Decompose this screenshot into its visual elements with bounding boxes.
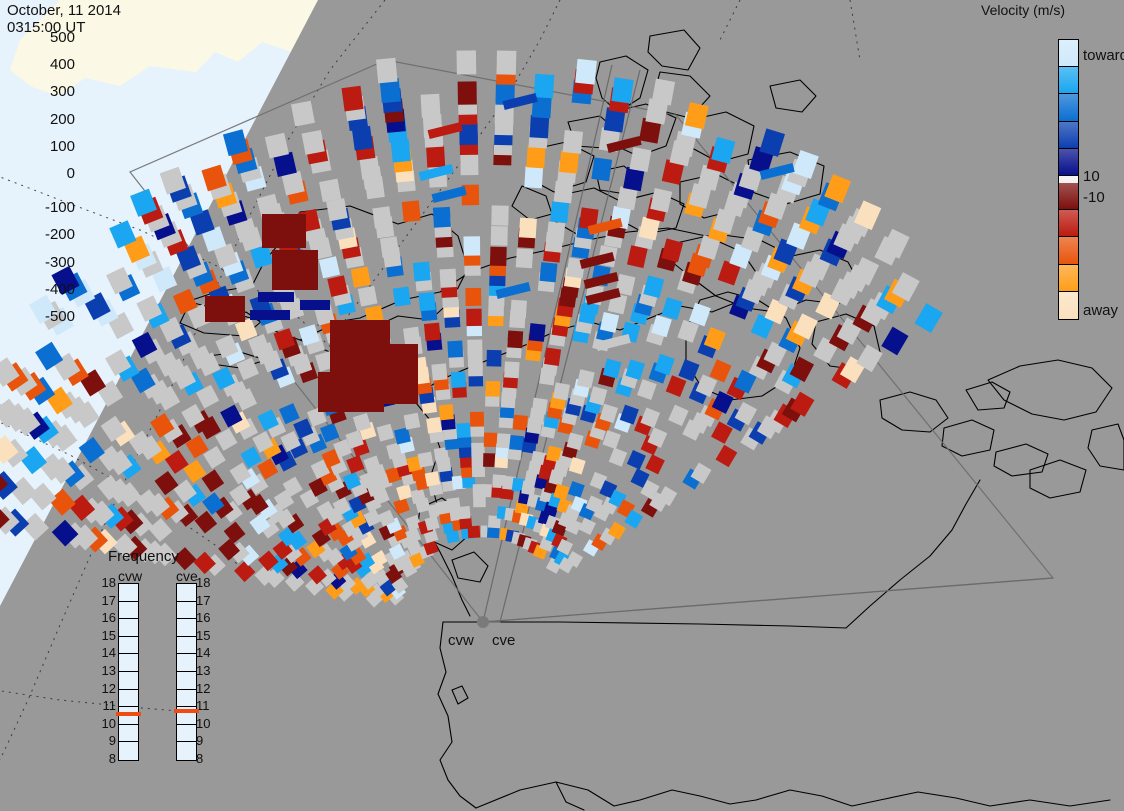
frequency-tick-12: 12 [196,681,216,696]
velocity-cell [413,261,431,281]
frequency-segment [119,672,138,690]
velocity-cell [504,361,520,378]
frequency-segment [177,672,196,690]
velocity-cell [540,262,558,282]
colorbar-band-0 [1059,40,1078,67]
velocity-cell [516,248,533,268]
velocity-cell [418,452,434,468]
velocity-cell [319,179,341,203]
frequency-segment [177,742,196,760]
colorbar-zero-lower-label: -10 [1083,189,1105,206]
velocity-cell [530,115,550,139]
frequency-segment [177,725,196,743]
frequency-tick-17: 17 [196,593,216,608]
frequency-segment [177,602,196,620]
velocity-cell [519,218,537,239]
colorbar-tick--300: -300 [45,254,75,271]
velocity-cell [404,413,421,430]
velocity-cell [402,200,421,222]
frequency-tick-16: 16 [196,610,216,625]
colorbar-band-10 [1059,292,1078,319]
colorbar-band-2 [1059,94,1078,121]
velocity-cell [544,348,561,366]
velocity-cell [563,130,583,154]
frequency-segment [177,690,196,708]
velocity-cell [459,123,478,145]
frequency-bar-label-cvw: cvw [118,568,142,584]
velocity-cell [426,145,445,168]
velocity-cell [467,339,482,356]
site-label-cve: cve [492,632,515,649]
frequency-bar-label-cve: cve [176,568,198,584]
velocity-cell [439,404,454,420]
velocity-cell [611,77,633,103]
velocity-cell [534,74,555,99]
velocity-cell [342,86,364,112]
velocity-cell [425,471,440,486]
frequency-segment [177,584,196,602]
frequency-marker-cve [174,709,199,713]
frequency-tick-11: 11 [96,698,116,713]
frequency-tick-11: 11 [196,698,216,713]
site-label-cvw: cvw [448,632,474,649]
velocity-cell [451,371,466,388]
frequency-tick-10: 10 [96,716,116,731]
velocity-cell [456,423,470,438]
velocity-cell [380,236,399,257]
velocity-cell [302,130,325,155]
velocity-cell [351,266,371,287]
colorbar-away-label: away [1083,302,1118,319]
frequency-tick-13: 13 [196,663,216,678]
velocity-cell [575,59,597,85]
velocity-cell [300,300,330,310]
frequency-bar-cve [176,583,197,761]
velocity-cell [457,506,470,519]
velocity-cell [460,154,478,176]
colorbar-band-3 [1059,122,1078,149]
frequency-segment [119,690,138,708]
velocity-cell [507,331,523,349]
frequency-tick-9: 9 [96,733,116,748]
colorbar-tick--400: -400 [45,281,75,298]
velocity-cell [526,146,545,169]
colorbar-tick--100: -100 [45,199,75,216]
velocity-cell [491,226,508,246]
velocity-cell [466,309,482,327]
velocity-cell [424,323,441,341]
velocity-cell [426,417,442,433]
colorbar-band-1 [1059,67,1078,94]
colorbar-tick-100: 100 [50,138,75,155]
velocity-cell [468,526,481,538]
velocity-cell [510,300,527,319]
velocity-cell [418,292,435,311]
velocity-cell [291,101,315,127]
velocity-cell [272,250,318,290]
velocity-cell [431,363,447,380]
velocity-cell [559,150,579,173]
frequency-segment [177,637,196,655]
velocity-cell [486,381,501,397]
frequency-segment [119,619,138,637]
velocity-cell [458,81,477,104]
colorbar-tick-0: 0 [67,165,75,182]
frequency-tick-15: 15 [96,628,116,643]
velocity-cell [553,382,570,400]
velocity-cell [484,433,498,448]
velocity-cell [524,166,543,188]
frequency-tick-14: 14 [196,645,216,660]
frequency-panel-title: Frequency [108,548,179,565]
colorbar-band-8 [1059,237,1078,264]
frequency-tick-12: 12 [96,681,116,696]
frequency-tick-8: 8 [96,751,116,766]
velocity-cell [470,412,484,427]
frequency-segment [177,619,196,637]
frequency-segment [119,654,138,672]
velocity-cell [421,94,441,118]
velocity-cell [447,340,463,357]
velocity-cell [326,198,348,221]
velocity-cell [358,286,378,307]
frequency-marker-cvw [116,712,141,716]
velocity-cell [403,327,420,346]
colorbar-tick-300: 300 [50,83,75,100]
velocity-cell [205,296,245,322]
colorbar-band-4 [1059,149,1078,176]
velocity-cell [591,157,612,181]
frequency-segment [119,742,138,760]
velocity-cell [547,221,566,242]
colorbar-tick-500: 500 [50,29,75,46]
frequency-tick-18: 18 [196,575,216,590]
velocity-cell [532,398,548,415]
colorbar-zero-band [1059,176,1078,183]
timestamp-line-1: October, 11 2014 [7,2,121,19]
frequency-segment [177,654,196,672]
frequency-segment [119,725,138,743]
velocity-cell [550,201,569,223]
velocity-cell [491,205,508,225]
velocity-cell [440,269,457,288]
velocity-cell [465,288,481,306]
velocity-cell [554,181,574,203]
frequency-tick-16: 16 [96,610,116,625]
velocity-cell [487,350,502,367]
frequency-segment [119,602,138,620]
velocity-cell [463,236,480,255]
velocity-cell [250,310,290,320]
velocity-cell [258,292,294,302]
colorbar-band-9 [1059,265,1078,292]
velocity-cell [433,207,451,228]
velocity-cell [318,372,384,412]
velocity-cell [496,50,516,74]
frequency-tick-17: 17 [96,593,116,608]
velocity-cell [496,433,510,448]
colorbar-tick-400: 400 [50,56,75,73]
colorbar-band-7 [1059,210,1078,237]
velocity-cell [629,147,651,172]
velocity-cell [513,415,528,431]
velocity-cell [471,443,485,457]
frequency-bar-cvw [118,583,139,761]
frequency-segment [119,584,138,602]
velocity-cell [509,435,524,450]
frequency-segment [119,637,138,655]
velocity-cell [457,50,477,74]
velocity-cell [393,287,411,307]
frequency-tick-14: 14 [96,645,116,660]
frequency-tick-8: 8 [196,751,216,766]
colorbar-tick--500: -500 [45,308,75,325]
radar-site-marker [477,616,489,628]
velocity-cell [391,139,411,162]
map-canvas [0,0,1124,811]
velocity-cell [376,58,398,84]
radar-map-figure: October, 11 2014 0315:00 UT cvw cve Velo… [0,0,1124,811]
colorbar-zero-upper-label: 10 [1083,168,1100,185]
velocity-cell [529,323,546,342]
colorbar-tick-200: 200 [50,111,75,128]
colorbar-band-6 [1059,183,1078,210]
velocity-cell [490,247,507,266]
frequency-tick-13: 13 [96,663,116,678]
velocity-colorbar [1058,39,1079,320]
colorbar-tick--200: -200 [45,226,75,243]
frequency-tick-9: 9 [196,733,216,748]
colorbar-title: Velocity (m/s) [981,2,1065,18]
velocity-cell [262,214,306,248]
colorbar-toward-label: toward [1083,47,1124,64]
velocity-cell [483,453,496,467]
frequency-tick-15: 15 [196,628,216,643]
frequency-tick-10: 10 [196,716,216,731]
frequency-tick-18: 18 [96,575,116,590]
velocity-cell [372,206,392,228]
